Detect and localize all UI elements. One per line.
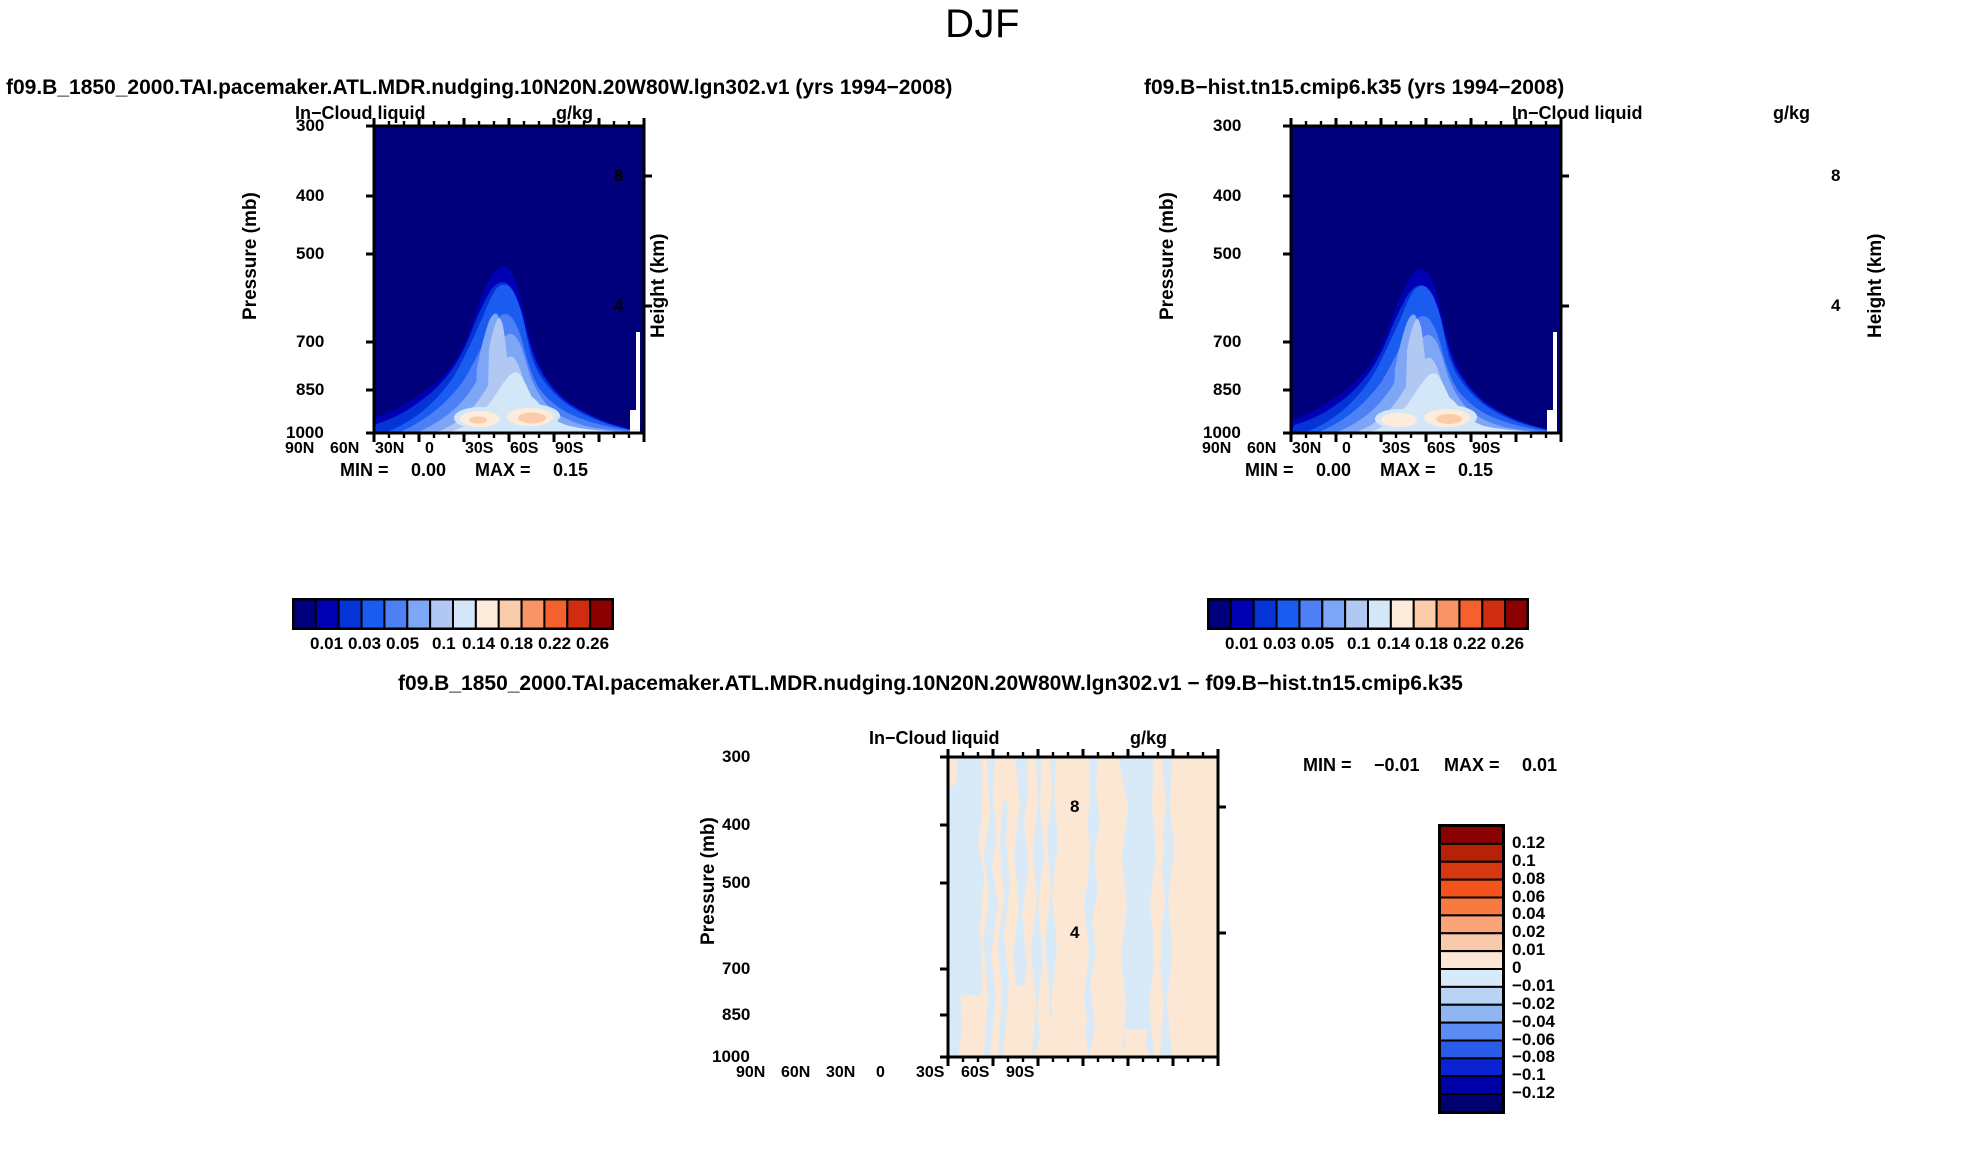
colorbar-segment (1440, 1094, 1503, 1112)
colorbar-segment (567, 599, 590, 629)
colorbar-segment (1482, 599, 1505, 629)
right-ytick-400: 400 (1213, 186, 1241, 206)
left-min-label: MIN = (340, 460, 389, 481)
diff-panel-title: f09.B_1850_2000.TAI.pacemaker.ATL.MDR.nu… (398, 672, 1463, 696)
right-max-label: MAX = (1380, 460, 1436, 481)
right-cb-label-5: 0.18 (1415, 634, 1448, 654)
left-cb-label-3: 0.1 (432, 634, 456, 654)
colorbar-segment (1440, 844, 1503, 862)
colorbar-segment (476, 599, 499, 629)
left-cb-label-4: 0.14 (462, 634, 495, 654)
diff-max-label: MAX = (1444, 755, 1500, 776)
right-y2tick-4: 4 (1831, 296, 1840, 316)
right-cb-label-4: 0.14 (1377, 634, 1410, 654)
left-max-value: 0.15 (553, 460, 588, 481)
right-xtick-60S: 60S (1427, 440, 1455, 458)
right-cb-label-6: 0.22 (1453, 634, 1486, 654)
diff-colorbar-labels: 0.120.10.080.060.040.020.010−0.01−0.02−0… (1512, 824, 1632, 1114)
colorbar-segment (544, 599, 567, 629)
colorbar-segment (1440, 898, 1503, 916)
left-xtick-90N: 90N (285, 440, 314, 458)
colorbar-segment (362, 599, 385, 629)
colorbar-segment (1440, 1005, 1503, 1023)
diff-y-axis-label: Pressure (mb) (698, 817, 720, 945)
left-max-label: MAX = (475, 460, 531, 481)
colorbar-segment (1440, 987, 1503, 1005)
left-xtick-30S: 30S (465, 440, 493, 458)
diff-y2tick-4: 4 (1070, 923, 1079, 943)
diff-ytick-700: 700 (722, 959, 750, 979)
colorbar-segment (1440, 862, 1503, 880)
diff-plot-svg (832, 745, 1232, 1175)
left-xtick-90S: 90S (555, 440, 583, 458)
colorbar-segment (1505, 599, 1528, 629)
colorbar-segment (1437, 599, 1460, 629)
left-ytick-700: 700 (296, 332, 324, 352)
right-xtick-60N: 60N (1247, 440, 1276, 458)
left-ytick-300: 300 (296, 116, 324, 136)
right-cb-label-7: 0.26 (1491, 634, 1524, 654)
colorbar-segment (1440, 1041, 1503, 1059)
diff-max-value: 0.01 (1522, 755, 1557, 776)
left-cb-label-0: 0.01 (310, 634, 343, 654)
diff-plot (832, 745, 1232, 1175)
diff-ytick-400: 400 (722, 815, 750, 835)
diff-min-value: −0.01 (1374, 755, 1420, 776)
left-ytick-850: 850 (296, 380, 324, 400)
colorbar-segment (453, 599, 476, 629)
colorbar-segment (1440, 1076, 1503, 1094)
diff-y2tick-8: 8 (1070, 797, 1079, 817)
left-cb-label-7: 0.26 (576, 634, 609, 654)
right-xtick-90N: 90N (1202, 440, 1231, 458)
colorbar-segment (1440, 826, 1503, 844)
left-cb-label-1: 0.03 (348, 634, 381, 654)
right-min-value: 0.00 (1316, 460, 1351, 481)
left-y2tick-8: 8 (614, 166, 623, 186)
diff-ytick-500: 500 (722, 873, 750, 893)
right-cb-label-2: 0.05 (1301, 634, 1334, 654)
colorbar-segment (1440, 969, 1503, 987)
left-ytick-500: 500 (296, 244, 324, 264)
right-ytick-500: 500 (1213, 244, 1241, 264)
diff-min-label: MIN = (1303, 755, 1352, 776)
left-colorbar[interactable] (292, 598, 614, 630)
colorbar-segment (1440, 951, 1503, 969)
right-min-label: MIN = (1245, 460, 1294, 481)
right-colorbar[interactable] (1207, 598, 1529, 630)
diff-xtick-60N: 60N (781, 1064, 810, 1082)
diff-xtick-90N: 90N (736, 1064, 765, 1082)
right-cb-label-1: 0.03 (1263, 634, 1296, 654)
right-y2tick-8: 8 (1831, 166, 1840, 186)
colorbar-segment (1322, 599, 1345, 629)
colorbar-segment (1391, 599, 1414, 629)
right-colorbar-svg[interactable] (1207, 598, 1529, 630)
colorbar-segment (1440, 1023, 1503, 1041)
right-cb-label-0: 0.01 (1225, 634, 1258, 654)
right-units-label: g/kg (1773, 103, 1810, 124)
colorbar-segment (430, 599, 453, 629)
right-ytick-300: 300 (1213, 116, 1241, 136)
diff-xtick-60S: 60S (961, 1064, 989, 1082)
diff-colorbar[interactable] (1438, 824, 1506, 1114)
colorbar-segment (1208, 599, 1231, 629)
diff-colorbar-label: −0.12 (1512, 1083, 1555, 1103)
colorbar-segment (1368, 599, 1391, 629)
left-cb-label-5: 0.18 (500, 634, 533, 654)
left-colorbar-svg[interactable] (292, 598, 614, 630)
diff-ytick-850: 850 (722, 1005, 750, 1025)
colorbar-segment (1440, 933, 1503, 951)
right-ytick-850: 850 (1213, 380, 1241, 400)
left-xtick-60N: 60N (330, 440, 359, 458)
left-y2tick-4: 4 (614, 296, 623, 316)
colorbar-segment (1440, 880, 1503, 898)
right-xtick-0: 0 (1342, 440, 1351, 458)
right-ytick-700: 700 (1213, 332, 1241, 352)
colorbar-segment (1277, 599, 1300, 629)
left-panel-title: f09.B_1850_2000.TAI.pacemaker.ATL.MDR.nu… (6, 76, 952, 100)
season-title: DJF (0, 2, 1965, 47)
colorbar-segment (1254, 599, 1277, 629)
right-max-value: 0.15 (1458, 460, 1493, 481)
colorbar-segment (339, 599, 362, 629)
colorbar-segment (1414, 599, 1437, 629)
diff-xtick-30S: 30S (916, 1064, 944, 1082)
left-cb-label-2: 0.05 (386, 634, 419, 654)
colorbar-segment (316, 599, 339, 629)
left-ytick-400: 400 (296, 186, 324, 206)
colorbar-segment (1440, 1058, 1503, 1076)
colorbar-segment (293, 599, 316, 629)
colorbar-segment (590, 599, 613, 629)
right-y2-axis-label: Height (km) (1865, 234, 1887, 339)
diff-xtick-0: 0 (876, 1064, 885, 1082)
left-min-value: 0.00 (411, 460, 446, 481)
colorbar-segment (499, 599, 522, 629)
colorbar-segment (1459, 599, 1482, 629)
colorbar-segment (1345, 599, 1368, 629)
diff-xtick-30N: 30N (826, 1064, 855, 1082)
colorbar-segment (1299, 599, 1322, 629)
colorbar-segment (1440, 915, 1503, 933)
left-xtick-30N: 30N (375, 440, 404, 458)
left-xtick-60S: 60S (510, 440, 538, 458)
right-xtick-90S: 90S (1472, 440, 1500, 458)
diff-colorbar-svg[interactable] (1438, 824, 1506, 1114)
diff-ytick-300: 300 (722, 747, 750, 767)
left-cb-label-6: 0.22 (538, 634, 571, 654)
right-xtick-30S: 30S (1382, 440, 1410, 458)
colorbar-segment (1231, 599, 1254, 629)
right-cb-label-3: 0.1 (1347, 634, 1371, 654)
colorbar-segment (384, 599, 407, 629)
left-xtick-0: 0 (425, 440, 434, 458)
right-panel-title: f09.B−hist.tn15.cmip6.k35 (yrs 1994−2008… (1144, 76, 1564, 100)
right-xtick-30N: 30N (1292, 440, 1321, 458)
diff-xtick-90S: 90S (1006, 1064, 1034, 1082)
colorbar-segment (407, 599, 430, 629)
colorbar-segment (522, 599, 545, 629)
